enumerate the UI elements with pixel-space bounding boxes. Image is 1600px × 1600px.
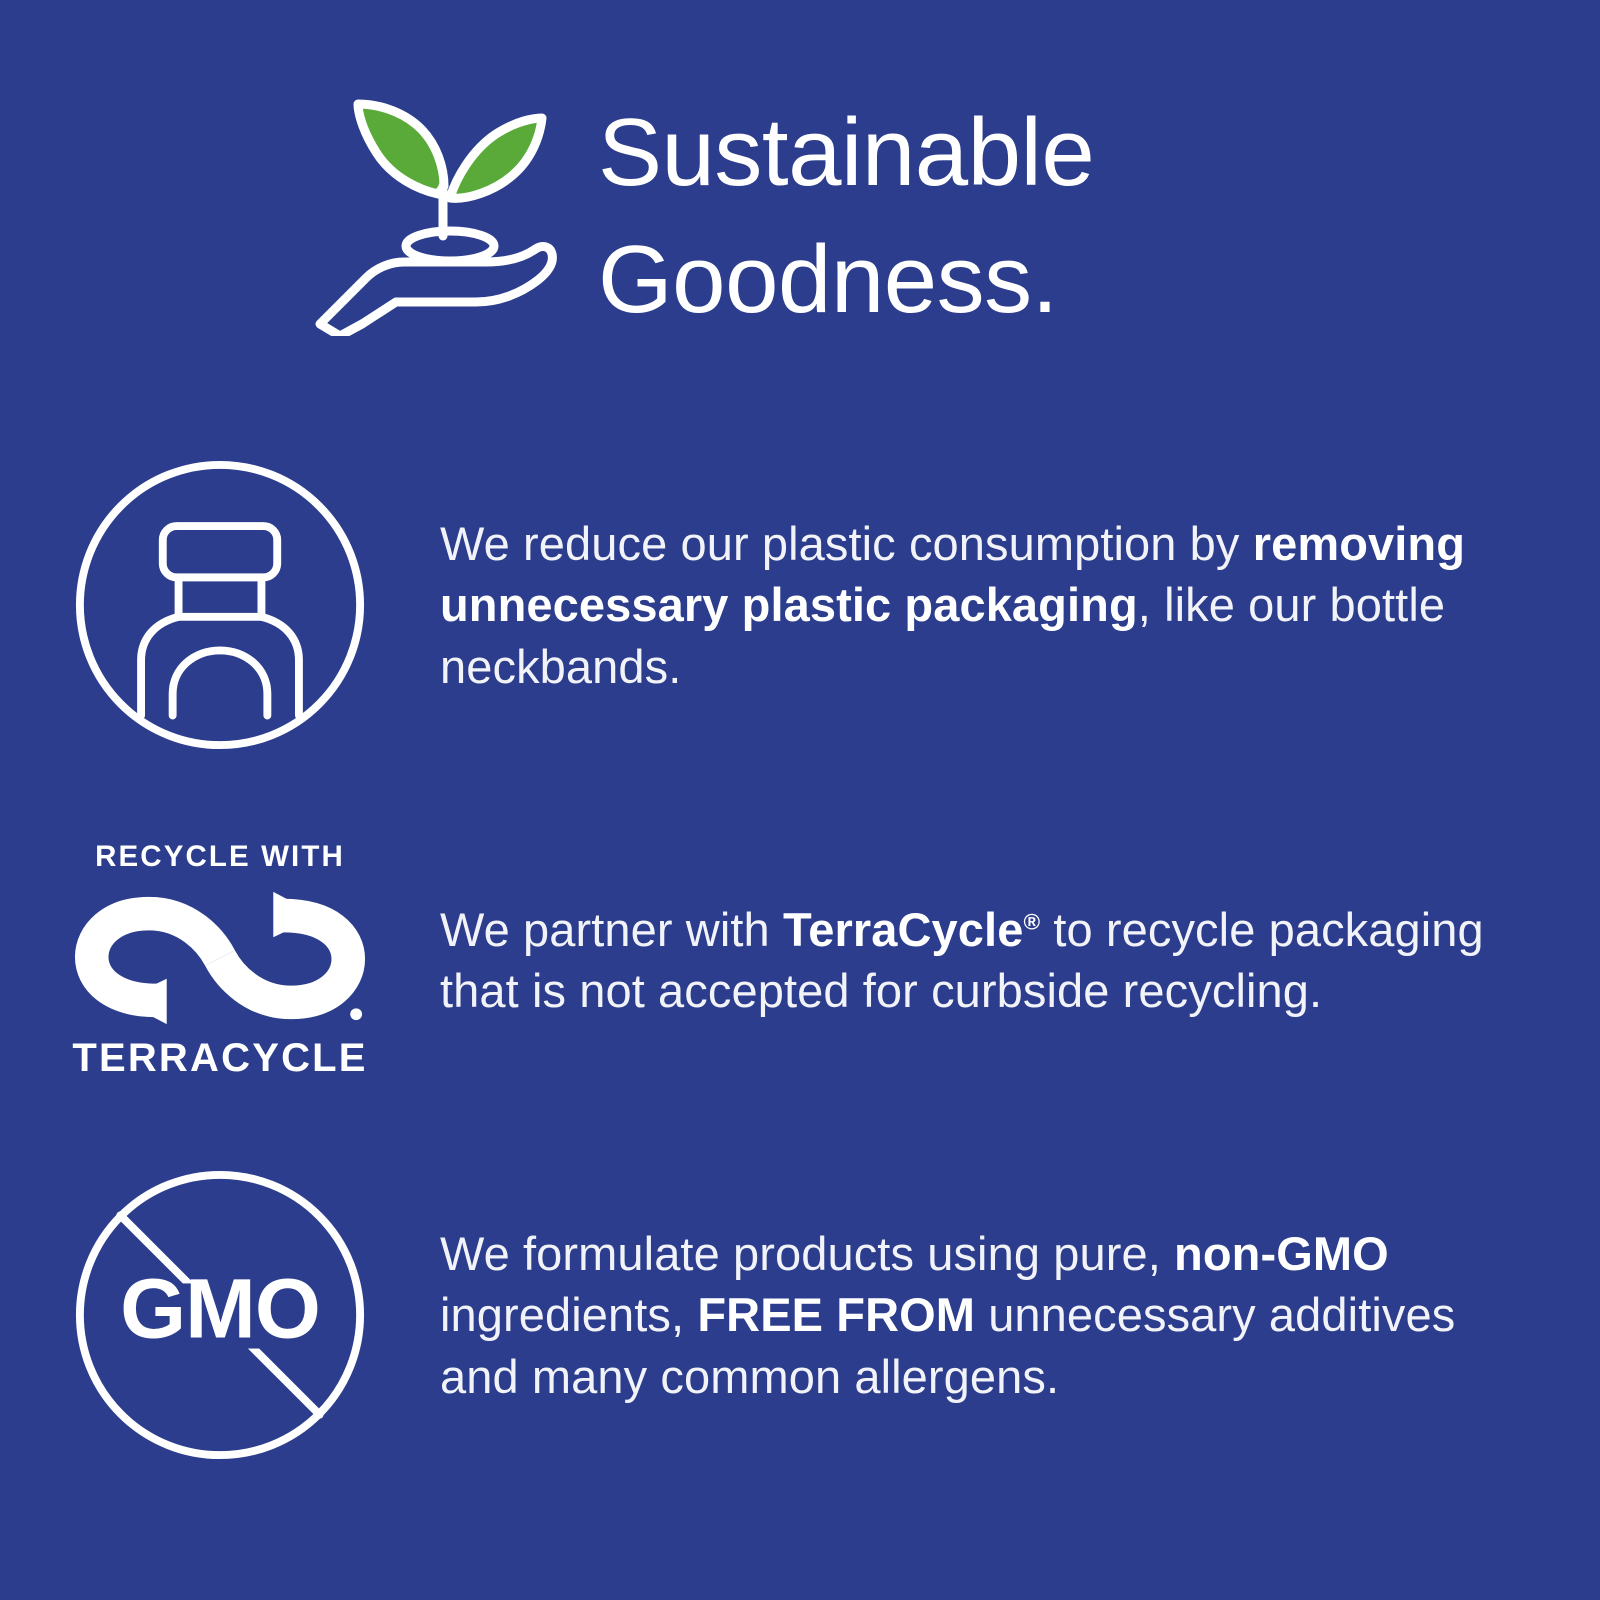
page-title: Sustainable Goodness. xyxy=(598,80,1094,343)
benefit-row-terracycle: RECYCLE WITH xyxy=(0,770,1600,1150)
benefit-rows: We reduce our plastic consumption by rem… xyxy=(0,440,1600,1480)
bottle-in-circle-icon xyxy=(0,457,440,753)
terracycle-logo: RECYCLE WITH xyxy=(0,842,440,1078)
page-title-line-2: Goodness. xyxy=(598,217,1094,344)
benefit-row-non-gmo: GMO We formulate products using pure, no… xyxy=(0,1150,1600,1480)
header: Sustainable Goodness. xyxy=(300,80,1560,343)
benefit-text-non-gmo: We formulate products using pure, non-GM… xyxy=(440,1223,1600,1406)
hand-holding-sprout-icon xyxy=(300,86,570,336)
no-gmo-icon-label: GMO xyxy=(120,1261,320,1356)
no-gmo-icon: GMO xyxy=(0,1167,440,1463)
terracycle-logo-top-label: RECYCLE WITH xyxy=(70,842,370,872)
sustainability-infographic: Sustainable Goodness. xyxy=(0,0,1600,1600)
benefit-text-terracycle: We partner with TerraCycle® to recycle p… xyxy=(440,899,1600,1021)
infinity-loop-arrows-icon xyxy=(72,884,368,1032)
registered-trademark-mark: ® xyxy=(1023,909,1040,934)
terracycle-logo-bottom-label: TERRACYCLE xyxy=(70,1038,370,1078)
benefit-text-plastic-reduction: We reduce our plastic consumption by rem… xyxy=(440,513,1600,696)
benefit-row-plastic-reduction: We reduce our plastic consumption by rem… xyxy=(0,440,1600,770)
page-title-line-1: Sustainable xyxy=(598,90,1094,217)
